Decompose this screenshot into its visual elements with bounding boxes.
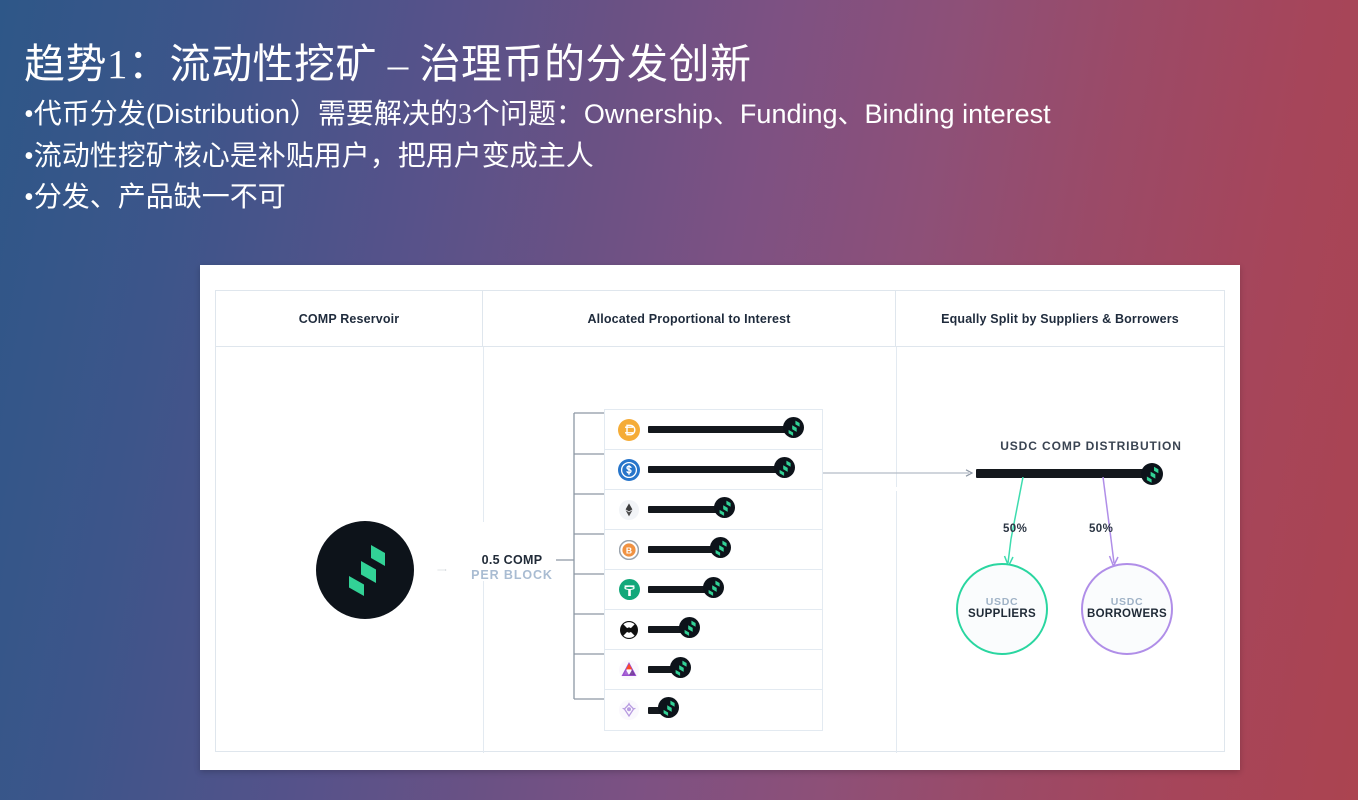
asset-bar-eth — [648, 506, 719, 513]
column-divider-1-top — [483, 347, 484, 522]
usdc-distribution-title: USDC COMP DISTRIBUTION — [966, 439, 1216, 453]
comp-rate-amount: 0.5 COMP — [456, 553, 568, 568]
column-divider-2-bottom — [896, 491, 897, 753]
diagram-card: COMP Reservoir Allocated Proportional to… — [200, 265, 1240, 770]
wbtc-icon: B — [616, 540, 642, 560]
asset-allocation-rows: B — [604, 409, 823, 731]
eth-icon — [616, 500, 642, 520]
usdc-suppliers-bubble[interactable]: USDC SUPPLIERS — [956, 563, 1048, 655]
zrx-icon — [616, 620, 642, 640]
comp-token-icon — [774, 457, 795, 483]
compound-logo — [316, 521, 414, 619]
arrow-usdc-to-distribution — [823, 468, 975, 478]
bullet-list: •代币分发(Distribution）需要解决的3个问题：Ownership、F… — [24, 94, 1324, 218]
asset-bar-track-dai — [648, 417, 804, 443]
asset-bar-track-usdt — [648, 577, 724, 603]
usdc-icon — [616, 459, 642, 481]
asset-bar-track-usdc — [648, 457, 795, 483]
asset-bar-track-zrx — [648, 617, 700, 643]
usdc-suppliers-bottom-label: SUPPLIERS — [968, 608, 1036, 622]
asset-bar-track-eth — [648, 497, 735, 523]
bat-icon — [616, 660, 642, 680]
comp-token-icon — [714, 497, 735, 523]
comp-rate-period: PER BLOCK — [456, 568, 568, 583]
rep-icon — [616, 700, 642, 720]
column-divider-1-bottom — [483, 581, 484, 753]
asset-bar-track-rep — [648, 697, 679, 723]
bullet-item-2: •流动性挖矿核心是补贴用户，把用户变成主人 — [24, 136, 1324, 177]
asset-row-eth[interactable] — [605, 490, 822, 530]
column-header-comp-reservoir: COMP Reservoir — [216, 291, 483, 346]
asset-bar-track-wbtc — [648, 537, 731, 563]
usdc-borrowers-bottom-label: BORROWERS — [1087, 608, 1167, 622]
asset-row-usdc[interactable] — [605, 450, 822, 490]
asset-row-zrx[interactable] — [605, 610, 822, 650]
asset-bar-track-bat — [648, 657, 691, 683]
asset-row-wbtc[interactable]: B — [605, 530, 822, 570]
comp-token-icon — [783, 417, 804, 443]
usdc-borrowers-top-label: USDC — [1111, 596, 1144, 608]
comp-token-icon — [658, 697, 679, 723]
split-percent-borrowers: 50% — [1089, 523, 1113, 535]
asset-row-dai[interactable] — [605, 410, 822, 450]
comp-token-icon — [710, 537, 731, 563]
usdc-suppliers-top-label: USDC — [986, 596, 1019, 608]
split-percent-suppliers: 50% — [1003, 523, 1027, 535]
asset-row-rep[interactable] — [605, 690, 822, 730]
column-header-split: Equally Split by Suppliers & Borrowers — [896, 291, 1224, 346]
asset-bar-wbtc — [648, 546, 715, 553]
bullet-item-1: •代币分发(Distribution）需要解决的3个问题：Ownership、F… — [24, 94, 1324, 135]
bullet-1-mid: ）需要解决的3个问题： — [290, 99, 584, 130]
bullet-1-latin-2: Ownership、Funding、Binding interest — [584, 99, 1051, 129]
slide-heading: 趋势1：流动性挖矿 – 治理币的分发创新 •代币分发(Distribution）… — [24, 38, 1324, 219]
column-divider-2-top — [896, 347, 897, 487]
column-header-allocated: Allocated Proportional to Interest — [483, 291, 896, 346]
bullet-item-3: •分发、产品缺一不可 — [24, 177, 1324, 218]
diagram-header-row: COMP Reservoir Allocated Proportional to… — [216, 291, 1224, 347]
svg-text:B: B — [626, 545, 632, 555]
asset-bar-usdc — [648, 466, 779, 473]
comp-rate-label: 0.5 COMP PER BLOCK — [456, 553, 568, 584]
comp-token-icon — [670, 657, 691, 683]
dai-icon — [616, 419, 642, 441]
comp-token-icon — [703, 577, 724, 603]
asset-row-usdt[interactable] — [605, 570, 822, 610]
page-title: 趋势1：流动性挖矿 – 治理币的分发创新 — [24, 38, 1324, 90]
asset-bar-usdt — [648, 586, 708, 593]
comp-distribution-diagram: COMP Reservoir Allocated Proportional to… — [215, 290, 1225, 752]
comp-token-icon — [679, 617, 700, 643]
usdt-icon — [616, 579, 642, 600]
bullet-1-latin-1: (Distribution — [146, 99, 290, 129]
asset-row-bat[interactable] — [605, 650, 822, 690]
usdc-borrowers-bubble[interactable]: USDC BORROWERS — [1081, 563, 1173, 655]
asset-bar-dai — [648, 426, 788, 433]
bullet-1-prefix: •代币分发 — [24, 99, 146, 130]
